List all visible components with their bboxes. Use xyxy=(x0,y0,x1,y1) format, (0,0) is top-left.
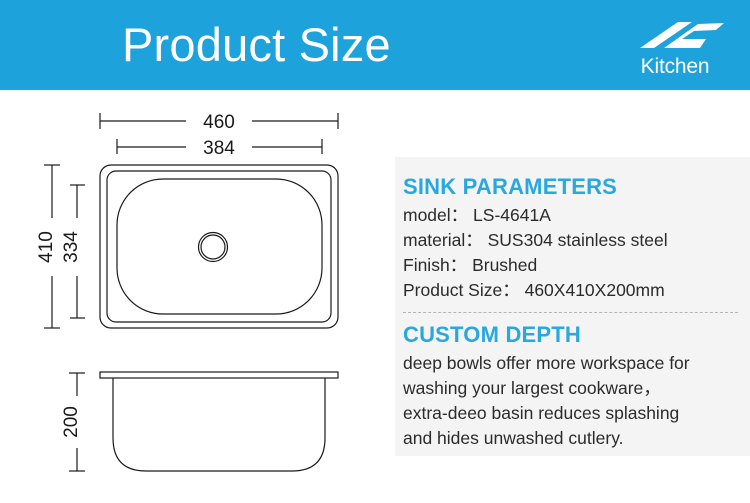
spec-value-finish: Brushed xyxy=(472,255,537,275)
sink-side-section-view xyxy=(100,372,338,471)
sink-parameters-heading: SINK PARAMETERS xyxy=(403,173,740,201)
spec-row-product-size: Product Size： 460X410X200mm xyxy=(403,278,740,303)
page-title: Product Size xyxy=(122,16,391,74)
sink-flange xyxy=(100,372,338,378)
specifications-panel: SINK PARAMETERS model： LS-4641A material… xyxy=(395,157,750,456)
dim-width-outer-label: 460 xyxy=(203,112,235,133)
dim-depth-label: 200 xyxy=(61,406,82,438)
spec-value-product-size: 460X410X200mm xyxy=(525,280,665,300)
dim-width-inner-label: 384 xyxy=(203,138,235,159)
spec-row-model: model： LS-4641A xyxy=(403,203,740,228)
dim-height-outer-label: 410 xyxy=(36,231,57,263)
spec-value-material: SUS304 stainless steel xyxy=(488,230,668,250)
sink-basin-profile xyxy=(113,378,325,471)
sink-outer-rim xyxy=(100,165,338,328)
sink-bowl-outline xyxy=(117,179,322,314)
dim-height-inner-label: 334 xyxy=(61,231,82,263)
custom-depth-line: extra-deeo basin reduces splashing xyxy=(403,401,740,426)
custom-depth-heading: CUSTOM DEPTH xyxy=(403,321,740,349)
spec-row-finish: Finish： Brushed xyxy=(403,253,740,278)
kitchen-swoosh-logo-icon xyxy=(620,18,730,58)
spec-label-model: model： xyxy=(403,205,468,225)
sink-top-view xyxy=(100,165,338,328)
brand-name: Kitchen xyxy=(620,54,730,80)
custom-depth-line: deep bowls offer more workspace for xyxy=(403,351,740,376)
header-banner: Product Size Kitchen xyxy=(0,0,750,90)
drain-hole-icon xyxy=(199,233,228,262)
spec-label-finish: Finish： xyxy=(403,255,467,275)
drawing-canvas: 460 384 410 xyxy=(0,90,388,503)
spec-row-material: material： SUS304 stainless steel xyxy=(403,228,740,253)
spec-label-material: material： xyxy=(403,230,483,250)
spec-label-product-size: Product Size： xyxy=(403,280,520,300)
spec-value-model: LS-4641A xyxy=(473,205,551,225)
custom-depth-line: washing your largest cookware， xyxy=(403,376,740,401)
brand-logo: Kitchen xyxy=(620,18,730,80)
drain-hole-inner-icon xyxy=(201,235,225,259)
technical-drawing: 460 384 410 xyxy=(0,90,388,503)
custom-depth-line: and hides unwashed cutlery. xyxy=(403,426,740,451)
section-divider xyxy=(403,312,738,313)
sink-inner-rim xyxy=(107,171,331,322)
